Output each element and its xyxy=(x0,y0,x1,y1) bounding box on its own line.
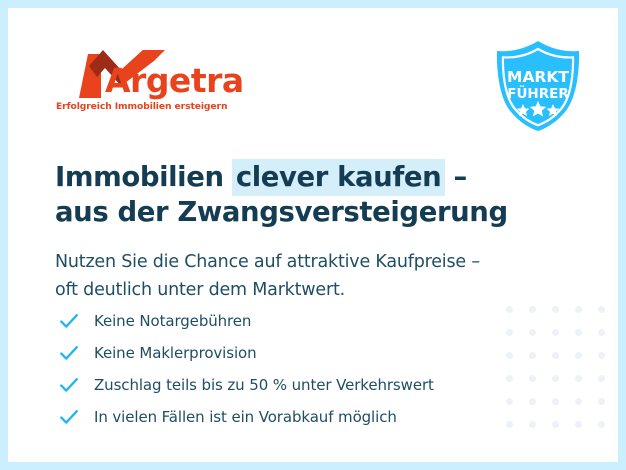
subheading-line1: Nutzen Sie die Chance auf attraktive Kau… xyxy=(55,252,480,272)
grid-dot xyxy=(598,421,605,428)
list-item-label: Zuschlag teils bis zu 50 % unter Verkehr… xyxy=(94,376,434,394)
grid-dot xyxy=(529,398,536,405)
list-item-label: In vielen Fällen ist ein Vorabkauf mögli… xyxy=(94,408,397,426)
grid-dot xyxy=(575,352,582,359)
list-item: Keine Maklerprovision xyxy=(58,337,528,369)
list-item: Zuschlag teils bis zu 50 % unter Verkehr… xyxy=(58,369,528,401)
list-item: In vielen Fällen ist ein Vorabkauf mögli… xyxy=(58,401,528,433)
headline-line1-after: – xyxy=(444,161,467,193)
grid-dot xyxy=(575,306,582,313)
logo-tagline: Erfolgreich Immobilien ersteigern xyxy=(56,101,227,112)
grid-dot xyxy=(529,352,536,359)
check-icon xyxy=(58,406,80,428)
grid-dot xyxy=(598,329,605,336)
banner-canvas: Argetra Erfolgreich Immobilien ersteiger… xyxy=(8,8,618,462)
headline-line1-before: Immobilien xyxy=(55,161,233,193)
argetra-logo: Argetra Erfolgreich Immobilien ersteiger… xyxy=(55,46,245,114)
grid-dot xyxy=(575,375,582,382)
subheading: Nutzen Sie die Chance auf attraktive Kau… xyxy=(55,248,575,304)
promo-banner: Argetra Erfolgreich Immobilien ersteiger… xyxy=(0,0,626,470)
grid-dot xyxy=(529,306,536,313)
check-icon xyxy=(58,310,80,332)
page-title: Immobilien clever kaufen – aus der Zwang… xyxy=(55,160,575,230)
grid-dot xyxy=(598,352,605,359)
headline-highlight: clever kaufen xyxy=(232,159,446,196)
grid-dot xyxy=(552,398,559,405)
check-icon xyxy=(58,374,80,396)
list-item: Keine Notargebühren xyxy=(58,305,528,337)
grid-dot xyxy=(529,421,536,428)
shield-icon: MARKT FÜHRER xyxy=(491,38,585,134)
market-leader-badge: MARKT FÜHRER xyxy=(491,38,585,134)
grid-dot xyxy=(552,329,559,336)
grid-dot xyxy=(529,329,536,336)
check-icon xyxy=(58,342,80,364)
grid-dot xyxy=(529,375,536,382)
list-item-label: Keine Notargebühren xyxy=(94,312,251,330)
grid-dot xyxy=(598,398,605,405)
badge-line2: FÜHRER xyxy=(507,84,569,102)
grid-dot xyxy=(598,375,605,382)
list-item-label: Keine Maklerprovision xyxy=(94,344,257,362)
grid-dot xyxy=(575,398,582,405)
grid-dot xyxy=(552,306,559,313)
headline-line2: aus der Zwangsversteigerung xyxy=(55,196,508,228)
grid-dot xyxy=(552,352,559,359)
logo-wordmark: Argetra xyxy=(105,63,244,99)
grid-dot xyxy=(552,421,559,428)
grid-dot xyxy=(575,421,582,428)
badge-line1: MARKT xyxy=(507,68,569,86)
grid-dot xyxy=(575,329,582,336)
grid-dot xyxy=(552,375,559,382)
subheading-line2: oft deutlich unter dem Marktwert. xyxy=(55,280,345,300)
benefits-checklist: Keine NotargebührenKeine Maklerprovision… xyxy=(58,305,528,433)
grid-dot xyxy=(598,306,605,313)
